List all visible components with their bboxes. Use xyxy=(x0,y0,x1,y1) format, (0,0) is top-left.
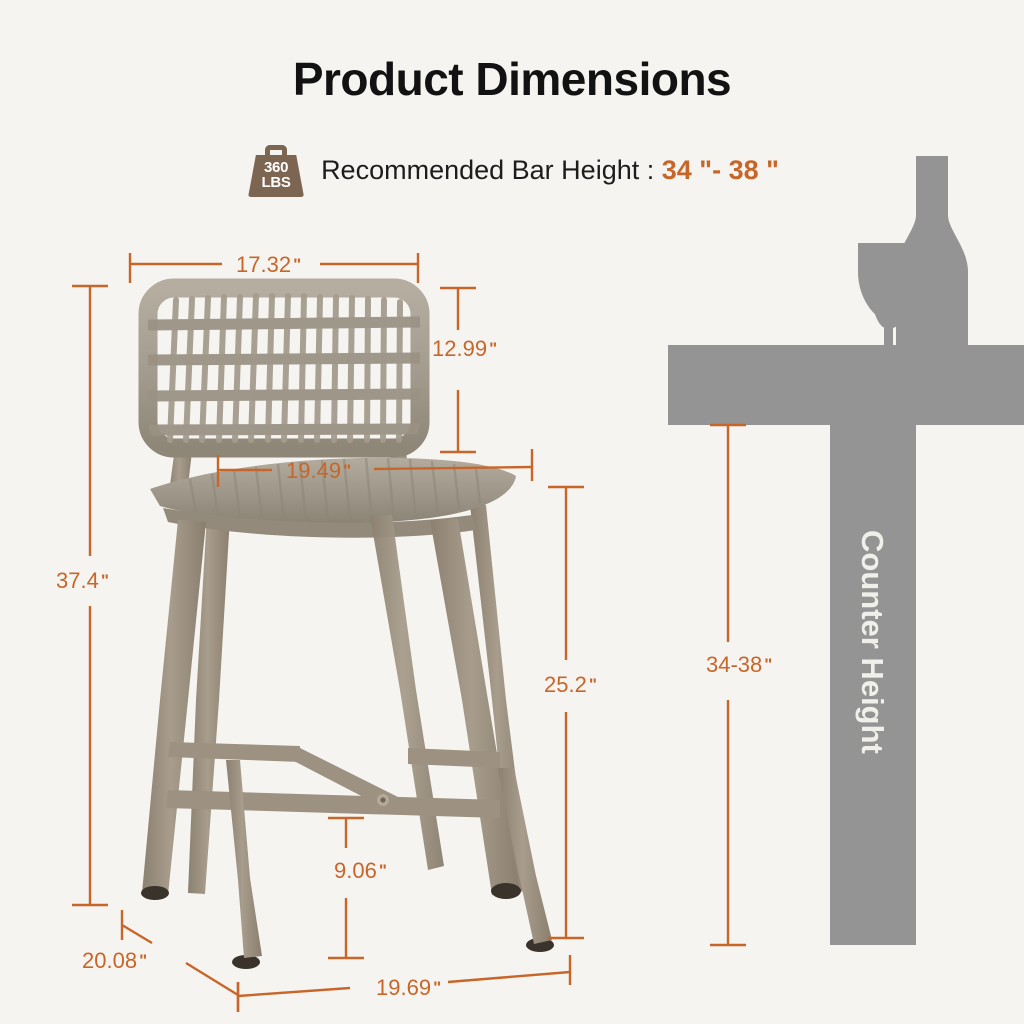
label-depth: 20.08" xyxy=(82,948,147,974)
footrest-bar xyxy=(166,790,500,818)
unit-base-width: " xyxy=(433,978,441,997)
dimensions-illustration xyxy=(0,0,1024,1024)
unit-backrest-width: " xyxy=(293,255,301,274)
unit-overall-height: " xyxy=(101,571,109,590)
label-seat-height: 25.2" xyxy=(544,672,597,698)
value-backrest-width: 17.32 xyxy=(236,252,291,277)
footrest-screw-slot xyxy=(380,797,385,802)
value-depth: 20.08 xyxy=(82,948,137,973)
unit-footrest-height: " xyxy=(379,861,387,880)
value-backrest-height: 12.99 xyxy=(432,336,487,361)
label-overall-height: 37.4" xyxy=(56,568,109,594)
value-counter-height-range: 34-38 xyxy=(706,652,762,677)
counter-shape xyxy=(668,345,1024,945)
foot-cap-front-right xyxy=(491,883,521,899)
counter-height-label: Counter Height xyxy=(854,530,890,754)
rear-left-leg-lower xyxy=(226,760,262,958)
value-footrest-height: 9.06 xyxy=(334,858,377,883)
label-footrest-height: 9.06" xyxy=(334,858,387,884)
label-base-width: 19.69" xyxy=(376,975,441,1001)
counter-illustration xyxy=(668,156,1024,945)
value-overall-height: 37.4 xyxy=(56,568,99,593)
label-seat-width: 19.49" xyxy=(286,458,351,484)
foot-cap-front-left xyxy=(141,886,169,900)
backrest-weave xyxy=(150,296,420,440)
side-rail-left xyxy=(168,742,300,762)
unit-backrest-height: " xyxy=(489,339,497,358)
value-seat-width: 19.49 xyxy=(286,458,341,483)
unit-seat-height: " xyxy=(589,675,597,694)
unit-seat-width: " xyxy=(343,461,351,480)
value-seat-height: 25.2 xyxy=(544,672,587,697)
value-base-width: 19.69 xyxy=(376,975,431,1000)
dimension-line-counter-height xyxy=(710,425,746,945)
chair-mid-leg xyxy=(370,515,444,870)
label-counter-height-range: 34-38" xyxy=(706,652,772,678)
label-backrest-height: 12.99" xyxy=(432,336,497,362)
unit-depth: " xyxy=(139,951,147,970)
label-backrest-width: 17.32" xyxy=(236,252,301,278)
unit-counter-height: " xyxy=(764,655,772,674)
